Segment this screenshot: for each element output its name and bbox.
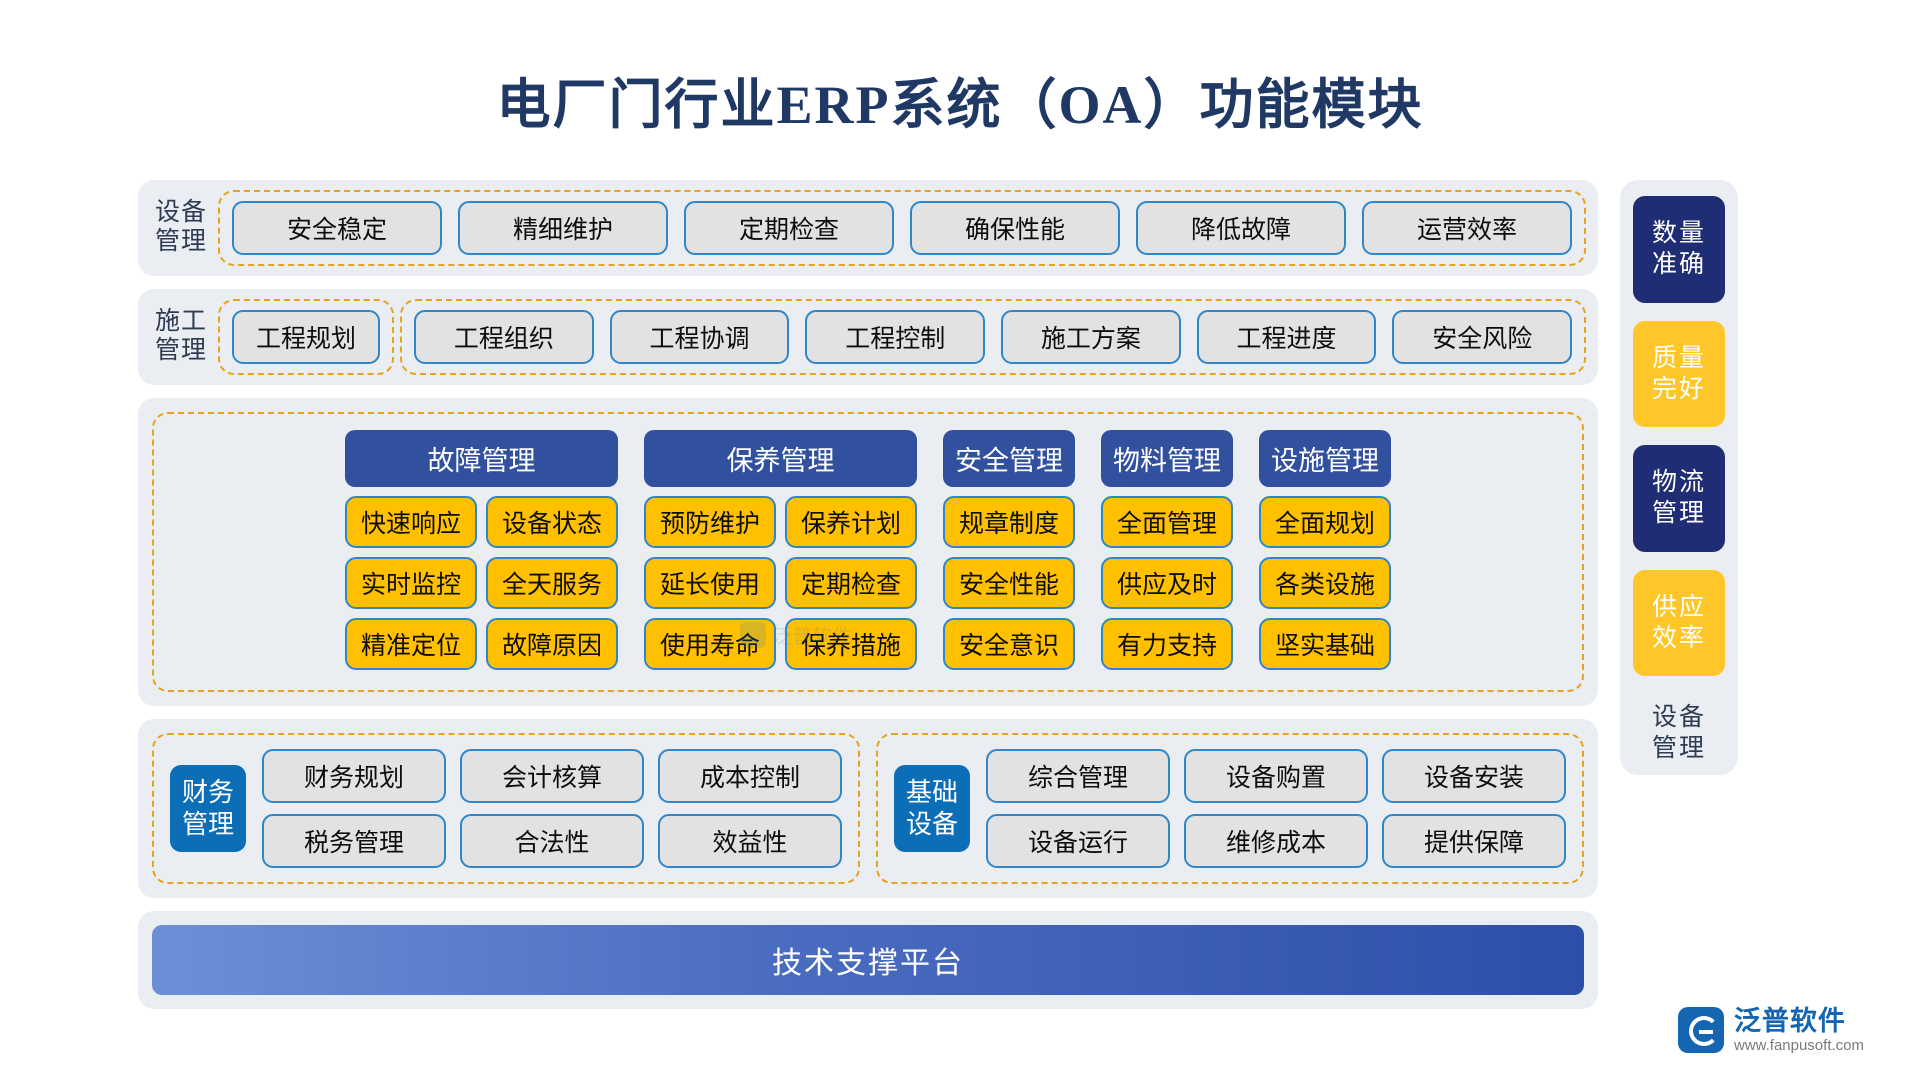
brand-url: www.fanpusoft.com: [1734, 1037, 1864, 1054]
chip-item[interactable]: 工程控制: [805, 310, 985, 364]
module-item[interactable]: 延长使用: [644, 557, 776, 609]
module-item[interactable]: 各类设施: [1259, 557, 1391, 609]
chip-item[interactable]: 设备安装: [1382, 749, 1566, 803]
module-header[interactable]: 保养管理: [644, 430, 917, 487]
chip-item[interactable]: 运营效率: [1362, 201, 1572, 255]
module-item[interactable]: 预防维护: [644, 496, 776, 548]
module-column-material: 物料管理 全面管理 供应及时 有力支持: [1101, 430, 1233, 670]
module-item-row: 安全意识: [943, 618, 1075, 670]
module-column-maintenance: 保养管理 预防维护 保养计划 延长使用 定期检查 使用寿命 保养措施: [644, 430, 917, 670]
chip-item[interactable]: 效益性: [658, 814, 842, 868]
module-item[interactable]: 供应及时: [1101, 557, 1233, 609]
band-construction-management: 施工 管理 工程规划 工程组织 工程协调 工程控制 施工方案 工程进度 安全风险: [138, 289, 1598, 385]
chip-item[interactable]: 工程协调: [610, 310, 790, 364]
module-item[interactable]: 全面管理: [1101, 496, 1233, 548]
chip-item[interactable]: 定期检查: [684, 201, 894, 255]
module-item-row: 供应及时: [1101, 557, 1233, 609]
module-column-safety: 安全管理 规章制度 安全性能 安全意识: [943, 430, 1075, 670]
module-item-row: 有力支持: [1101, 618, 1233, 670]
module-header[interactable]: 物料管理: [1101, 430, 1233, 487]
platform-panel: 技术支撑平台: [138, 911, 1598, 1009]
module-column-fault: 故障管理 快速响应 设备状态 实时监控 全天服务 精准定位 故障原因: [345, 430, 618, 670]
sidebar-item-quality-intact[interactable]: 质量 完好: [1633, 321, 1725, 428]
module-item[interactable]: 精准定位: [345, 618, 477, 670]
support-modules-panel: 财务 管理 财务规划 会计核算 成本控制 税务管理 合法性 效益性: [138, 719, 1598, 898]
chip-item[interactable]: 工程组织: [414, 310, 594, 364]
band-equipment-management: 设备 管理 安全稳定 精细维护 定期检查 确保性能 降低故障 运营效率: [138, 180, 1598, 276]
chip-item[interactable]: 设备购置: [1184, 749, 1368, 803]
module-item-row: 规章制度: [943, 496, 1075, 548]
module-item[interactable]: 使用寿命: [644, 618, 776, 670]
sidebar-item-equipment-management: 设备 管理: [1652, 694, 1706, 765]
chip-item[interactable]: 施工方案: [1001, 310, 1181, 364]
module-item-row: 全面管理: [1101, 496, 1233, 548]
module-item-row: 安全性能: [943, 557, 1075, 609]
chip-item[interactable]: 设备运行: [986, 814, 1170, 868]
module-header[interactable]: 设施管理: [1259, 430, 1391, 487]
chip-item[interactable]: 维修成本: [1184, 814, 1368, 868]
chip-item[interactable]: 合法性: [460, 814, 644, 868]
page-title: 电厂门行业ERP系统（OA）功能模块: [0, 0, 1920, 132]
module-item[interactable]: 设备状态: [486, 496, 618, 548]
group-finance: 财务 管理 财务规划 会计核算 成本控制 税务管理 合法性 效益性: [152, 733, 860, 884]
module-item[interactable]: 规章制度: [943, 496, 1075, 548]
module-item-row: 使用寿命 保养措施: [644, 618, 917, 670]
chip-item[interactable]: 降低故障: [1136, 201, 1346, 255]
module-item[interactable]: 故障原因: [486, 618, 618, 670]
sidebar-item-quantity-accuracy[interactable]: 数量 准确: [1633, 196, 1725, 303]
chip-item[interactable]: 税务管理: [262, 814, 446, 868]
band-label-equipment: 设备 管理: [150, 199, 212, 257]
dashed-group-equipment: 安全稳定 精细维护 定期检查 确保性能 降低故障 运营效率: [218, 190, 1586, 266]
group-item-row: 财务规划 会计核算 成本控制: [262, 749, 842, 803]
module-item-row: 全面规划: [1259, 496, 1391, 548]
brand-logo: 泛普软件 www.fanpusoft.com: [1678, 1006, 1864, 1054]
brand-name: 泛普软件: [1734, 1006, 1864, 1037]
module-item-row: 坚实基础: [1259, 618, 1391, 670]
sidebar: 数量 准确 质量 完好 物流 管理 供应 效率 设备 管理: [1620, 180, 1738, 775]
diagram-body: 设备 管理 安全稳定 精细维护 定期检查 确保性能 降低故障 运营效率: [0, 132, 1920, 1009]
module-item-row: 各类设施: [1259, 557, 1391, 609]
chip-item[interactable]: 会计核算: [460, 749, 644, 803]
module-item[interactable]: 快速响应: [345, 496, 477, 548]
chip-item[interactable]: 安全稳定: [232, 201, 442, 255]
dashed-group-construction-secondary: 工程组织 工程协调 工程控制 施工方案 工程进度 安全风险: [400, 299, 1586, 375]
chip-item[interactable]: 提供保障: [1382, 814, 1566, 868]
group-item-row: 综合管理 设备购置 设备安装: [986, 749, 1566, 803]
chip-item[interactable]: 工程进度: [1197, 310, 1377, 364]
group-label-finance[interactable]: 财务 管理: [170, 765, 246, 852]
dashed-group-construction-primary: 工程规划: [218, 299, 394, 375]
group-label-basic-equipment[interactable]: 基础 设备: [894, 765, 970, 852]
module-item-row: 快速响应 设备状态: [345, 496, 618, 548]
module-header[interactable]: 故障管理: [345, 430, 618, 487]
module-item[interactable]: 有力支持: [1101, 618, 1233, 670]
module-item[interactable]: 全天服务: [486, 557, 618, 609]
module-item[interactable]: 定期检查: [785, 557, 917, 609]
chip-item[interactable]: 安全风险: [1392, 310, 1572, 364]
module-item[interactable]: 保养计划: [785, 496, 917, 548]
module-column-facility: 设施管理 全面规划 各类设施 坚实基础: [1259, 430, 1391, 670]
left-column: 设备 管理 安全稳定 精细维护 定期检查 确保性能 降低故障 运营效率: [138, 180, 1598, 1009]
module-item[interactable]: 保养措施: [785, 618, 917, 670]
chip-item[interactable]: 工程规划: [232, 310, 380, 364]
sidebar-item-supply-efficiency[interactable]: 供应 效率: [1633, 570, 1725, 677]
platform-bar[interactable]: 技术支撑平台: [152, 925, 1584, 995]
module-item[interactable]: 全面规划: [1259, 496, 1391, 548]
module-item-row: 延长使用 定期检查: [644, 557, 917, 609]
module-item[interactable]: 安全性能: [943, 557, 1075, 609]
chip-item[interactable]: 确保性能: [910, 201, 1120, 255]
group-items-finance: 财务规划 会计核算 成本控制 税务管理 合法性 效益性: [262, 749, 842, 868]
chip-item[interactable]: 财务规划: [262, 749, 446, 803]
core-modules-panel: 故障管理 快速响应 设备状态 实时监控 全天服务 精准定位 故障原因: [138, 398, 1598, 706]
module-header[interactable]: 安全管理: [943, 430, 1075, 487]
module-item[interactable]: 坚实基础: [1259, 618, 1391, 670]
module-item-row: 精准定位 故障原因: [345, 618, 618, 670]
group-item-row: 税务管理 合法性 效益性: [262, 814, 842, 868]
module-item[interactable]: 实时监控: [345, 557, 477, 609]
core-modules-dashed-group: 故障管理 快速响应 设备状态 实时监控 全天服务 精准定位 故障原因: [152, 412, 1584, 692]
group-items-basic-equipment: 综合管理 设备购置 设备安装 设备运行 维修成本 提供保障: [986, 749, 1566, 868]
brand-logo-icon: [1678, 1007, 1724, 1053]
module-item-row: 预防维护 保养计划: [644, 496, 917, 548]
module-item[interactable]: 安全意识: [943, 618, 1075, 670]
group-item-row: 设备运行 维修成本 提供保障: [986, 814, 1566, 868]
group-basic-equipment: 基础 设备 综合管理 设备购置 设备安装 设备运行 维修成本 提供保障: [876, 733, 1584, 884]
band-label-construction: 施工 管理: [150, 308, 212, 366]
chip-item[interactable]: 综合管理: [986, 749, 1170, 803]
erp-module-diagram: 电厂门行业ERP系统（OA）功能模块 设备 管理 安全稳定 精细维护 定期检查 …: [0, 0, 1920, 1080]
sidebar-item-logistics-management[interactable]: 物流 管理: [1633, 445, 1725, 552]
chip-item[interactable]: 成本控制: [658, 749, 842, 803]
module-item-row: 实时监控 全天服务: [345, 557, 618, 609]
chip-item[interactable]: 精细维护: [458, 201, 668, 255]
